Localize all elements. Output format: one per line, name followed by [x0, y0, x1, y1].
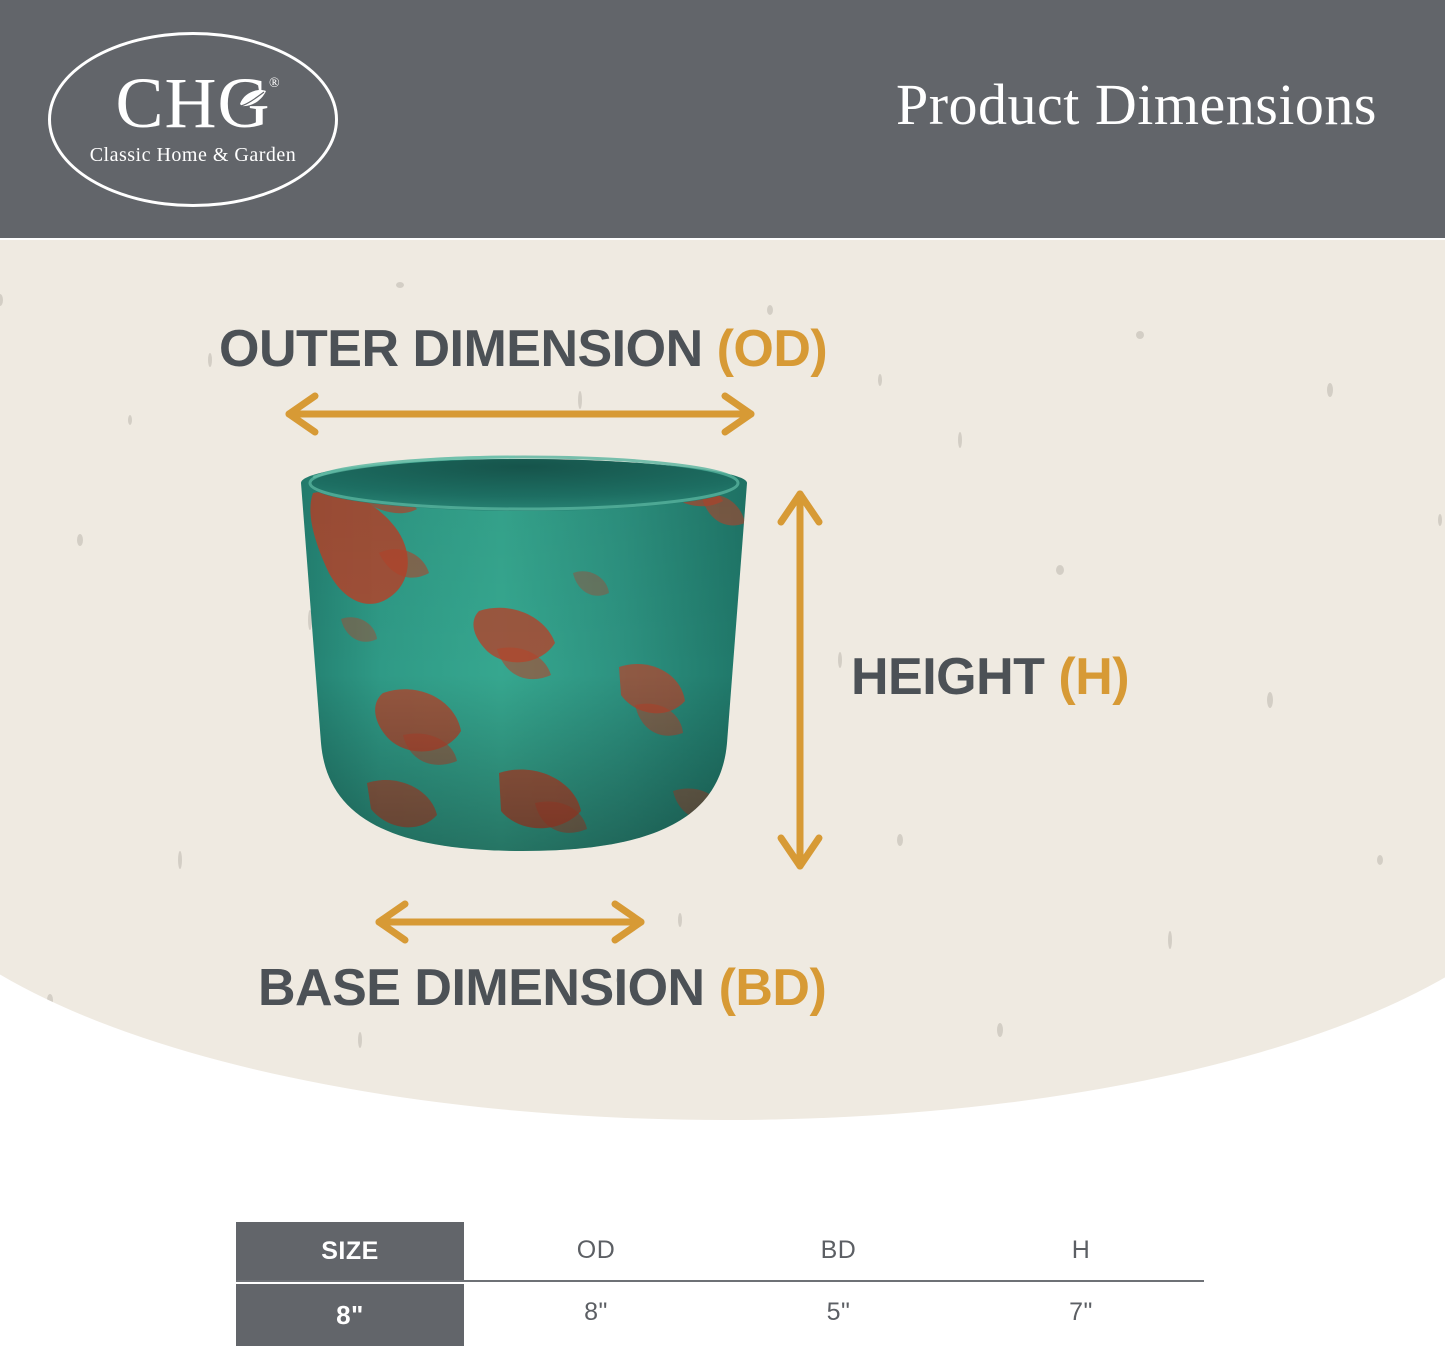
header-bar: CHG ® Classic Home & Garden Product Dime… [0, 0, 1445, 238]
chg-logo: CHG ® Classic Home & Garden [48, 32, 338, 207]
pot-interior [310, 459, 738, 511]
table-cell-bd: 5" [716, 1298, 961, 1327]
base-dimension-text: BASE DIMENSION [258, 959, 705, 1017]
table-cell-h: 7" [961, 1298, 1201, 1327]
registered-trademark-icon: ® [269, 76, 280, 92]
table-cell-size: 8" [236, 1284, 464, 1346]
table-header-h: H [961, 1236, 1201, 1265]
logo-tagline: Classic Home & Garden [48, 144, 338, 167]
dimensions-table: SIZE 8" OD BD H 8" 5" 7" [236, 1222, 1204, 1350]
table-header-od: OD [476, 1236, 716, 1265]
height-label: HEIGHT (H) [851, 647, 1129, 707]
outer-dimension-abbrev: (OD) [717, 320, 828, 378]
outer-dimension-arrow-icon [275, 390, 765, 438]
base-dimension-arrow-icon [365, 898, 655, 946]
table-cell-od: 8" [476, 1298, 716, 1327]
table-header-size: SIZE [236, 1222, 464, 1280]
base-dimension-abbrev: (BD) [719, 959, 827, 1017]
planter-pot-image [283, 443, 765, 875]
table-divider [236, 1280, 1204, 1282]
height-abbrev: (H) [1058, 648, 1129, 706]
height-text: HEIGHT [851, 648, 1044, 706]
logo-wordmark: CHG [48, 66, 338, 140]
base-dimension-label: BASE DIMENSION (BD) [258, 958, 826, 1018]
outer-dimension-label: OUTER DIMENSION (OD) [219, 319, 827, 379]
table-header-bd: BD [716, 1236, 961, 1265]
leaf-icon [238, 88, 268, 110]
page-title: Product Dimensions [896, 72, 1377, 138]
product-dimensions-infographic: CHG ® Classic Home & Garden Product Dime… [0, 0, 1445, 1353]
outer-dimension-text: OUTER DIMENSION [219, 320, 703, 378]
pot-shading [301, 459, 747, 851]
height-arrow-icon [770, 480, 830, 880]
